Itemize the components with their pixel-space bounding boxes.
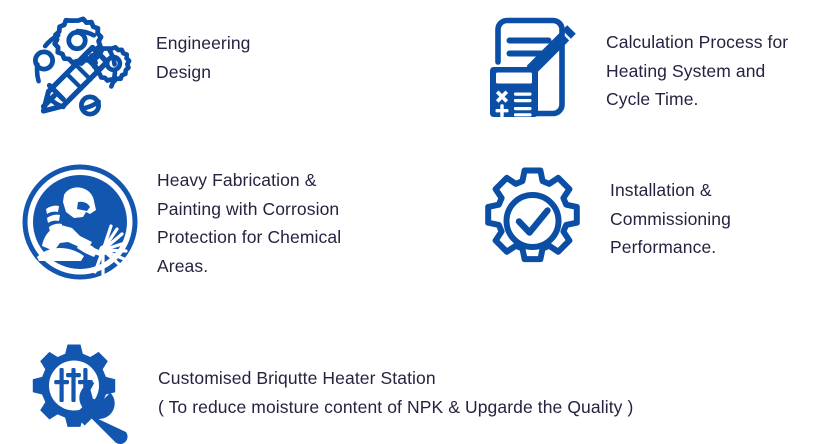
document-calculator-pencil-icon	[476, 14, 588, 122]
feature-list-board: Engineering Design	[0, 0, 824, 444]
feature-label-heavy-fabrication: Heavy Fabrication & Painting with Corros…	[157, 166, 341, 280]
feature-label-installation-commissioning: Installation & Commissioning Performance…	[610, 176, 731, 262]
gear-checkmark-icon	[476, 164, 592, 280]
feature-item-installation-commissioning: Installation & Commissioning Performance…	[476, 164, 731, 280]
feature-label-calculation-process: Calculation Process for Heating System a…	[606, 28, 788, 114]
pencil-gears-icon	[22, 10, 134, 122]
feature-item-engineering-design: Engineering Design	[22, 10, 251, 122]
feature-item-customised-briqutte: Customised Briqutte Heater Station ( To …	[24, 342, 633, 444]
feature-item-calculation-process: Calculation Process for Heating System a…	[476, 14, 788, 122]
feature-item-heavy-fabrication: Heavy Fabrication & Painting with Corros…	[20, 162, 341, 282]
welder-circle-icon	[20, 162, 140, 282]
feature-label-engineering-design: Engineering Design	[156, 29, 251, 86]
feature-label-customised-briqutte: Customised Briqutte Heater Station ( To …	[158, 364, 633, 421]
gear-wrench-settings-icon	[24, 342, 140, 444]
